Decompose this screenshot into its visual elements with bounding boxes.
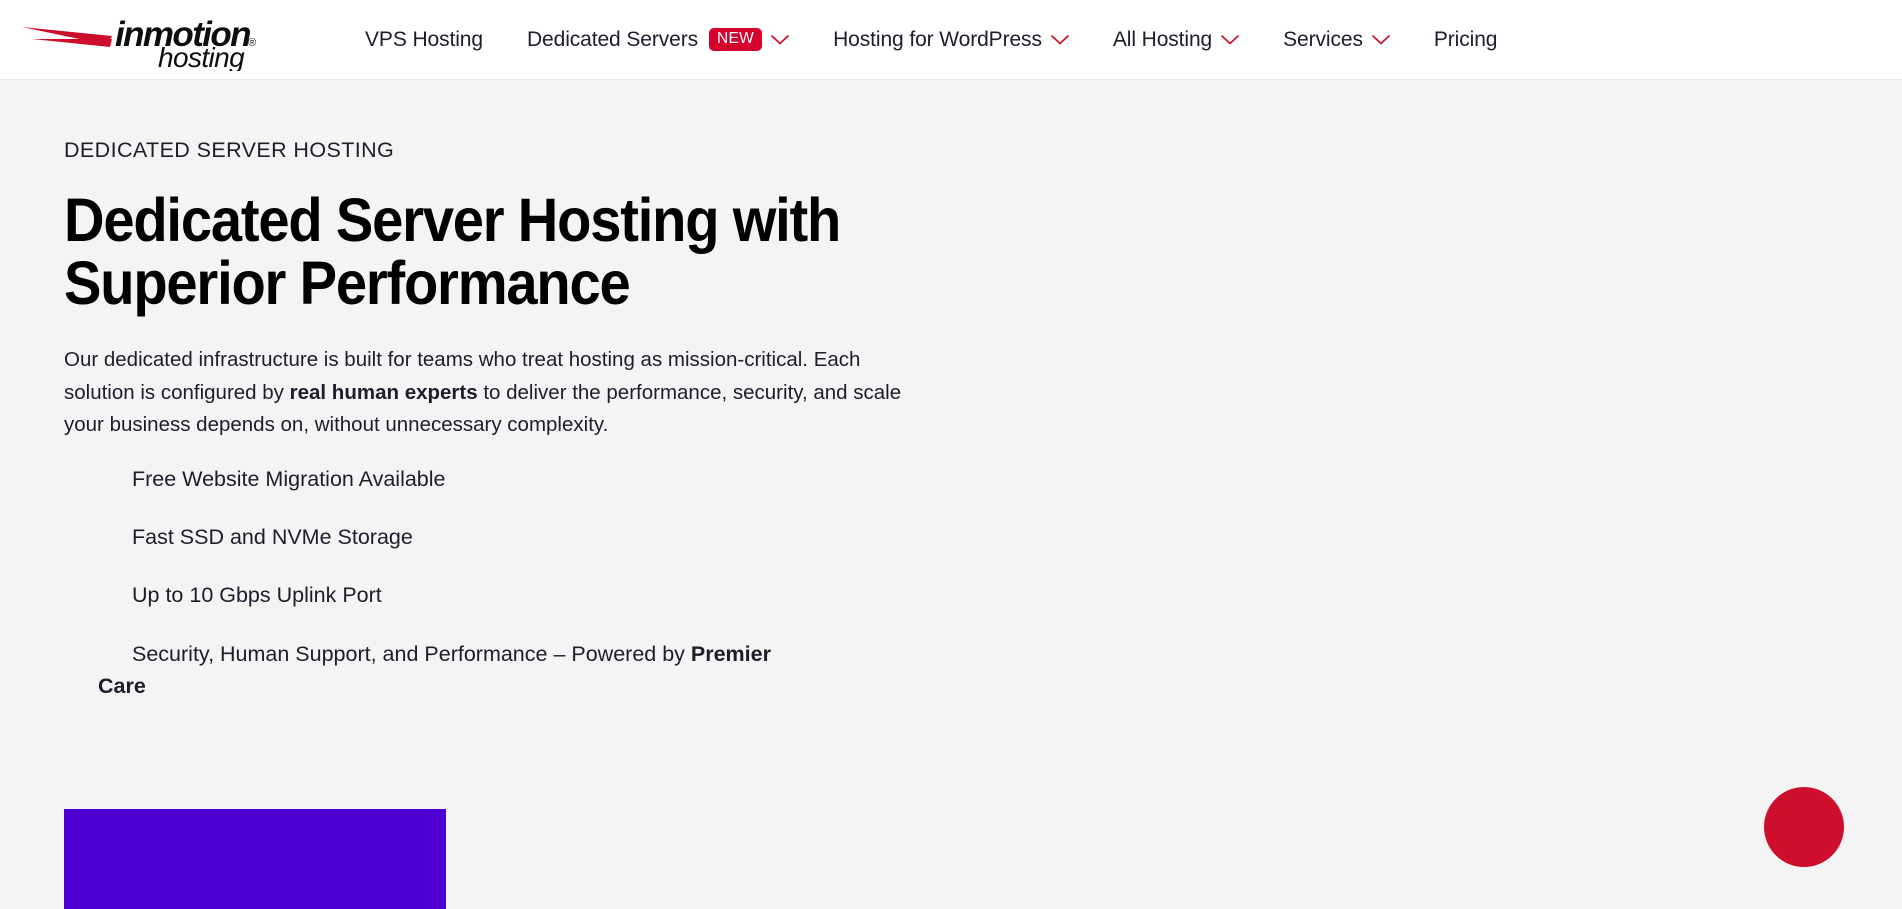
list-item: Up to 10 Gbps Uplink Port <box>132 579 962 611</box>
live-chat-button[interactable] <box>1764 787 1844 867</box>
main-navigation: VPS Hosting Dedicated Servers NEW Hostin… <box>343 0 1519 79</box>
hero-description-emphasis: real human experts <box>290 381 478 404</box>
site-header: inmotion ® hosting VPS Hosting Dedicated… <box>0 0 1902 80</box>
primary-cta-button[interactable] <box>64 809 446 909</box>
nav-item-dedicated-servers[interactable]: Dedicated Servers NEW <box>505 0 811 79</box>
list-item: Fast SSD and NVMe Storage <box>132 521 962 553</box>
chevron-down-icon <box>1221 35 1239 45</box>
nav-item-label: Services <box>1283 29 1363 50</box>
list-item-emphasis: Care <box>98 674 146 698</box>
feature-list: Free Website Migration Available Fast SS… <box>132 463 962 702</box>
svg-text:hosting: hosting <box>158 42 245 71</box>
page-title-line-1: Dedicated Server Hosting with <box>64 186 840 254</box>
svg-text:®: ® <box>248 37 256 49</box>
hero-description: Our dedicated infrastructure is built fo… <box>64 344 904 441</box>
list-item-line-2: Care <box>98 670 962 702</box>
list-item: Free Website Migration Available <box>132 463 962 495</box>
nav-item-label: Pricing <box>1434 29 1498 50</box>
inmotion-hosting-logo[interactable]: inmotion ® hosting <box>20 9 265 71</box>
list-item-text: Security, Human Support, and Performance… <box>132 642 691 666</box>
page-root: inmotion ® hosting VPS Hosting Dedicated… <box>0 0 1902 909</box>
new-badge: NEW <box>709 28 762 51</box>
list-item-line-1: Security, Human Support, and Performance… <box>132 638 962 670</box>
nav-item-services[interactable]: Services <box>1261 0 1412 79</box>
nav-item-all-hosting[interactable]: All Hosting <box>1091 0 1261 79</box>
nav-item-label: Hosting for WordPress <box>833 29 1042 50</box>
page-title-line-2: Superior Performance <box>64 249 630 317</box>
list-item: Security, Human Support, and Performance… <box>98 638 962 703</box>
nav-item-vps-hosting[interactable]: VPS Hosting <box>343 0 505 79</box>
logo-graphic: inmotion ® hosting <box>20 9 265 71</box>
nav-item-hosting-for-wordpress[interactable]: Hosting for WordPress <box>811 0 1091 79</box>
list-item-emphasis: Premier <box>691 642 771 666</box>
nav-item-label: Dedicated Servers <box>527 29 698 50</box>
nav-item-label: VPS Hosting <box>365 29 483 50</box>
eyebrow-label: DEDICATED SERVER HOSTING <box>64 138 1902 164</box>
nav-item-label: All Hosting <box>1113 29 1212 50</box>
chevron-down-icon <box>771 35 789 45</box>
page-title: Dedicated Server Hosting with Superior P… <box>64 189 874 315</box>
chevron-down-icon <box>1051 35 1069 45</box>
hero-section: DEDICATED SERVER HOSTING Dedicated Serve… <box>0 80 1902 702</box>
nav-item-pricing[interactable]: Pricing <box>1412 0 1520 79</box>
chevron-down-icon <box>1372 35 1390 45</box>
